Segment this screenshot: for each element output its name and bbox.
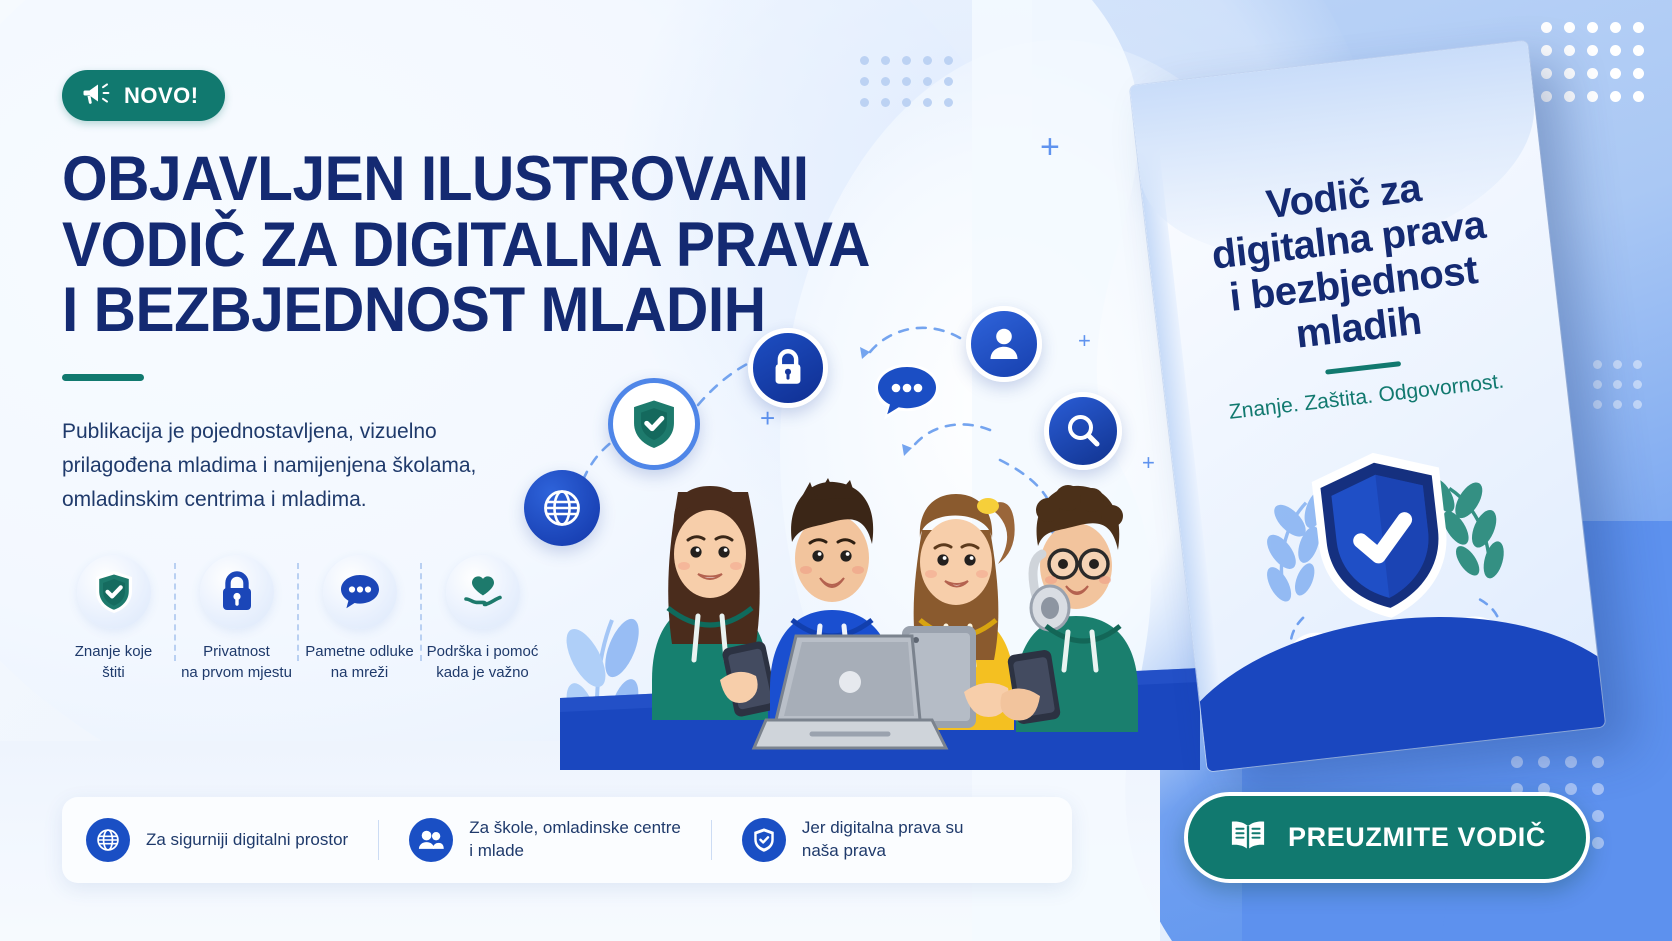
feature-item-knowledge: Znanje koještiti <box>52 555 175 683</box>
shield-check-icon <box>77 555 151 629</box>
feature-caption: Podrška i pomoćkada je važno <box>421 642 544 683</box>
bottom-item-text: Za škole, omladinske centrei mlade <box>469 817 681 863</box>
student-4 <box>1001 485 1139 732</box>
students-illustration <box>560 430 1200 760</box>
bottom-item-text: Za sigurniji digitalni prostor <box>146 829 348 852</box>
plus-decoration-1: + <box>1040 130 1060 164</box>
megaphone-icon <box>82 81 112 110</box>
headline-line-2: VODIČ ZA DIGITALNA PRAVA <box>62 213 825 279</box>
feature-list: Znanje koještiti Privatnostna prvom mjes… <box>52 555 544 683</box>
students-artwork <box>560 430 1200 770</box>
book-title: Vodič za digitalna prava i bezbjednost m… <box>1168 155 1534 369</box>
bottom-item-schools: Za škole, omladinske centrei mlade <box>409 817 681 863</box>
user-avatar-icon <box>966 306 1042 382</box>
people-icon <box>409 818 453 862</box>
shield-check-icon <box>742 818 786 862</box>
feature-caption: Pametne odlukena mreži <box>298 642 421 683</box>
bottom-item-safe-space: Za sigurniji digitalni prostor <box>86 818 348 862</box>
download-guide-label: PREUZMITE VODIČ <box>1288 822 1546 853</box>
globe-icon <box>86 818 130 862</box>
lock-icon <box>748 328 828 408</box>
feature-item-privacy: Privatnostna prvom mjestu <box>175 555 298 683</box>
headline-line-1: OBJAVLJEN ILUSTROVANI <box>62 147 825 213</box>
dot-grid-top-right <box>1541 22 1644 102</box>
open-book-icon <box>1228 818 1268 857</box>
bottom-bar-separator <box>378 820 379 860</box>
title-divider <box>62 374 144 381</box>
bottom-item-text: Jer digitalna prava sunaša prava <box>802 817 964 863</box>
feature-caption: Privatnostna prvom mjestu <box>175 642 298 683</box>
new-badge-label: NOVO! <box>124 83 199 109</box>
promo-banner: + + + + NOVO! OBJAVLJEN ILUSTROVANI VODI… <box>0 0 1672 941</box>
feature-item-smart-choices: Pametne odlukena mreži <box>298 555 421 683</box>
feature-caption: Znanje koještiti <box>52 642 175 683</box>
lock-icon <box>200 555 274 629</box>
bottom-bar-separator <box>711 820 712 860</box>
bottom-item-rights: Jer digitalna prava sunaša prava <box>742 817 964 863</box>
dot-grid-mid-right <box>1593 360 1642 409</box>
lede-paragraph: Publikacija je pojednostavljena, vizueln… <box>62 415 552 517</box>
chat-bubble-icon <box>323 555 397 629</box>
heart-hand-icon <box>446 555 520 629</box>
shield-check-icon <box>1309 446 1455 625</box>
book-title-divider <box>1325 361 1401 375</box>
student-1 <box>652 486 779 720</box>
guide-book-cover: Vodič za digitalna prava i bezbjednost m… <box>1130 38 1627 781</box>
chat-bubble-icon <box>866 358 948 434</box>
new-badge: NOVO! <box>62 70 225 121</box>
download-guide-button[interactable]: PREUZMITE VODIČ <box>1184 792 1590 883</box>
bottom-feature-bar: Za sigurniji digitalni prostor Za škole,… <box>62 797 1072 883</box>
